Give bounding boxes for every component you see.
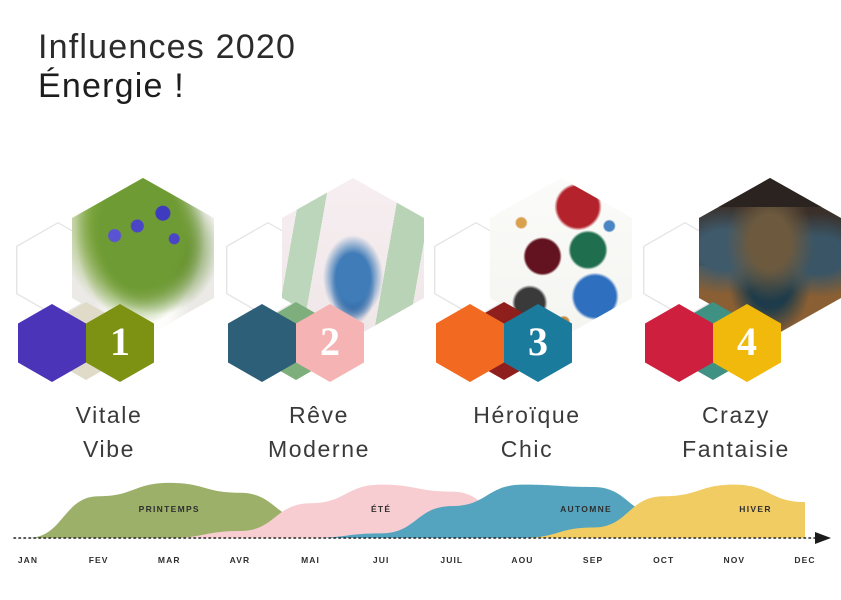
trend-name-line-2: Moderne: [214, 432, 424, 466]
season-label-été: ÉTÉ: [371, 504, 391, 514]
trend-name-line-1: Héroïque: [422, 398, 632, 432]
month-label-juil: JUIL: [440, 555, 463, 565]
trend-name-line-2: Vibe: [4, 432, 214, 466]
trend-name-3: HéroïqueChic: [422, 398, 632, 466]
page-title: Influences 2020 Énergie !: [38, 28, 296, 106]
trend-name-line-2: Chic: [422, 432, 632, 466]
trend-number-label: 2: [320, 322, 340, 362]
month-label-jui: JUI: [373, 555, 390, 565]
month-label-jan: JAN: [18, 555, 38, 565]
trend-name-2: RêveModerne: [214, 398, 424, 466]
season-label-hiver: HIVER: [739, 504, 771, 514]
month-label-dec: DEC: [794, 555, 815, 565]
month-label-fev: FEV: [89, 555, 109, 565]
trend-number-label: 1: [110, 322, 130, 362]
trend-name-line-1: Rêve: [214, 398, 424, 432]
month-label-mai: MAI: [301, 555, 320, 565]
season-label-automne: AUTOMNE: [560, 504, 612, 514]
trend-name-1: VitaleVibe: [4, 398, 214, 466]
month-label-aou: AOU: [511, 555, 533, 565]
trend-number-label: 4: [737, 322, 757, 362]
season-timeline: PRINTEMPSÉTÉAUTOMNEHIVERJANFEVMARAVRMAIJ…: [0, 470, 841, 595]
month-label-oct: OCT: [653, 555, 674, 565]
month-label-mar: MAR: [158, 555, 181, 565]
month-label-nov: NOV: [723, 555, 745, 565]
slide-canvas: Influences 2020 Énergie ! 1VitaleVibe2Rê…: [0, 0, 841, 595]
trend-name-line-2: Fantaisie: [631, 432, 841, 466]
trend-number-label: 3: [528, 322, 548, 362]
season-timeline-chart: PRINTEMPSÉTÉAUTOMNEHIVERJANFEVMARAVRMAIJ…: [0, 470, 841, 595]
trend-name-4: CrazyFantaisie: [631, 398, 841, 466]
title-line-2: Énergie !: [38, 66, 296, 106]
title-line-1: Influences 2020: [38, 28, 296, 66]
trend-name-line-1: Crazy: [631, 398, 841, 432]
timeline-arrow-icon: [815, 532, 831, 544]
month-label-avr: AVR: [230, 555, 251, 565]
trend-name-line-1: Vitale: [4, 398, 214, 432]
month-label-sep: SEP: [583, 555, 603, 565]
season-label-printemps: PRINTEMPS: [139, 504, 200, 514]
